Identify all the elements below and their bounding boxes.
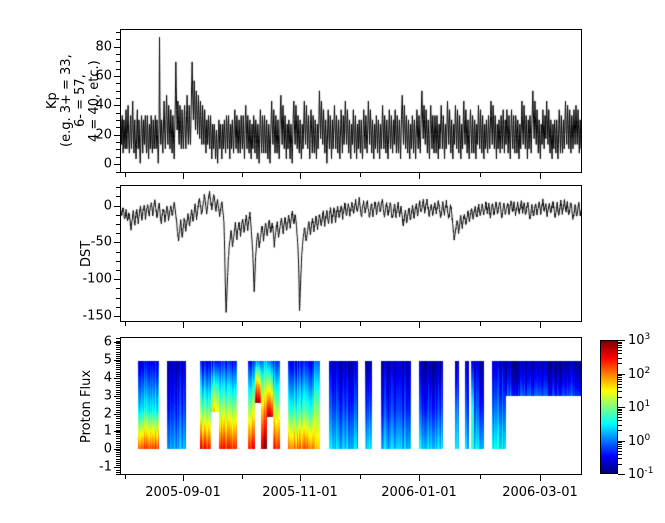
y-tick-minor (116, 365, 120, 366)
colorbar-tick-minor (618, 391, 622, 392)
x-tick-label: 2006-03-01 (502, 485, 578, 500)
y-tick-minor (116, 441, 120, 442)
x-tick-major (540, 475, 541, 481)
y-tick-minor (116, 423, 120, 424)
y-tick-label: -100 (74, 272, 112, 287)
y-tick-major (114, 47, 120, 48)
y-tick-minor (116, 427, 120, 428)
y-tick-label: 3 (74, 388, 112, 403)
y-tick-minor (116, 372, 120, 373)
colorbar-tick-minor (618, 425, 622, 426)
y-tick-major (114, 242, 120, 243)
y-tick-minor (116, 338, 120, 339)
y-tick-minor (116, 307, 120, 308)
y-tick-minor (116, 270, 120, 271)
y-tick-minor (116, 233, 120, 234)
y-tick-minor (116, 418, 120, 419)
x-tick-major (300, 173, 301, 179)
x-tick-minor (480, 173, 481, 177)
y-tick-major (114, 135, 120, 136)
colorbar-tick-minor (618, 464, 622, 465)
colorbar-tick-minor (618, 409, 622, 410)
y-tick-minor (116, 361, 120, 362)
y-tick-minor (116, 450, 120, 451)
y-tick-minor (116, 39, 120, 40)
x-tick-label: 2005-11-01 (262, 485, 338, 500)
y-tick-label: 1 (74, 424, 112, 439)
colorbar-tick-label: 103 (628, 332, 650, 348)
x-tick-major (183, 475, 184, 481)
colorbar-tick-label: 100 (628, 432, 650, 448)
y-tick-minor (116, 358, 120, 359)
x-tick-minor (480, 322, 481, 326)
colorbar-tick-major (618, 340, 625, 341)
y-tick-minor (116, 465, 120, 466)
x-tick-minor (242, 322, 243, 326)
y-tick-minor (116, 367, 120, 368)
y-tick-minor (116, 447, 120, 448)
colorbar-tick-minor (618, 412, 622, 413)
y-tick-minor (116, 376, 120, 377)
y-tick-label: 2 (74, 406, 112, 421)
y-tick-minor (116, 394, 120, 395)
y-tick-minor (116, 172, 120, 173)
y-tick-minor (116, 474, 120, 475)
x-tick-major (183, 322, 184, 328)
x-tick-major (540, 173, 541, 179)
colorbar-tick-minor (618, 397, 622, 398)
y-tick-minor (116, 407, 120, 408)
y-tick-major (114, 164, 120, 165)
y-tick-minor (116, 61, 120, 62)
colorbar-tick-minor (618, 458, 622, 459)
y-tick-label: 6 (74, 335, 112, 350)
y-tick-minor (116, 354, 120, 355)
colorbar-tick-minor (618, 420, 622, 421)
y-tick-minor (116, 252, 120, 253)
y-tick-major (114, 206, 120, 207)
colorbar-tick-major (618, 474, 625, 475)
y-tick-label: -1 (74, 459, 112, 474)
x-tick-major (419, 322, 420, 328)
y-tick-minor (116, 414, 120, 415)
x-tick-major (540, 322, 541, 328)
x-tick-minor (125, 322, 126, 326)
y-tick-minor (116, 434, 120, 435)
y-tick-minor (116, 472, 120, 473)
x-tick-label: 2006-01-01 (381, 485, 457, 500)
y-tick-label: 60 (74, 69, 112, 84)
y-tick-minor (116, 352, 120, 353)
y-tick-minor (116, 445, 120, 446)
y-tick-minor (116, 410, 120, 411)
y-tick-minor (116, 421, 120, 422)
y-tick-minor (116, 385, 120, 386)
y-tick-minor (116, 443, 120, 444)
colorbar-tick-minor (618, 442, 622, 443)
y-tick-minor (116, 403, 120, 404)
y-tick-minor (116, 425, 120, 426)
y-tick-minor (116, 341, 120, 342)
y-tick-major (114, 279, 120, 280)
colorbar-tick-minor (618, 446, 622, 447)
y-tick-minor (116, 142, 120, 143)
colorbar-tick-minor (618, 347, 622, 348)
y-tick-minor (116, 120, 120, 121)
x-tick-major (419, 173, 420, 179)
colorbar-tick-minor (618, 430, 622, 431)
colorbar-tick-minor (618, 377, 622, 378)
y-tick-minor (116, 392, 120, 393)
y-tick-minor (116, 196, 120, 197)
y-tick-minor (116, 432, 120, 433)
x-tick-minor (242, 173, 243, 177)
figure-canvas: Kp (e.g. 3+ = 33, 6- = 57, 4 = 40, etc.)… (0, 0, 665, 523)
colorbar-tick-minor (618, 358, 622, 359)
y-tick-minor (116, 436, 120, 437)
y-tick-minor (116, 298, 120, 299)
y-tick-minor (116, 398, 120, 399)
y-tick-label: -50 (74, 235, 112, 250)
y-tick-minor (116, 381, 120, 382)
colorbar-tick-minor (618, 451, 622, 452)
y-tick-major (114, 316, 120, 317)
y-tick-minor (116, 378, 120, 379)
y-tick-minor (116, 467, 120, 468)
x-tick-minor (360, 173, 361, 177)
colorbar-gradient (600, 340, 618, 474)
y-tick-minor (116, 401, 120, 402)
dst-series-plot (121, 186, 581, 321)
colorbar-tick-label: 101 (628, 399, 650, 415)
y-tick-major (114, 105, 120, 106)
y-tick-minor (116, 261, 120, 262)
y-tick-label: 40 (74, 98, 112, 113)
y-tick-minor (116, 69, 120, 70)
y-tick-label: 0 (74, 198, 112, 213)
x-tick-minor (360, 475, 361, 479)
y-tick-minor (116, 113, 120, 114)
y-tick-minor (116, 91, 120, 92)
x-tick-minor (242, 475, 243, 479)
colorbar-tick-minor (618, 410, 622, 411)
x-tick-minor (125, 475, 126, 479)
x-tick-minor (125, 173, 126, 177)
x-tick-minor (360, 322, 361, 326)
y-tick-minor (116, 149, 120, 150)
y-tick-minor (116, 454, 120, 455)
colorbar-tick-minor (618, 417, 622, 418)
y-tick-minor (116, 288, 120, 289)
y-tick-minor (116, 215, 120, 216)
y-tick-minor (116, 83, 120, 84)
colorbar-tick-minor (618, 384, 622, 385)
colorbar-tick-label: 10-1 (628, 466, 654, 482)
y-tick-minor (116, 463, 120, 464)
x-tick-major (300, 475, 301, 481)
y-tick-minor (116, 127, 120, 128)
y-tick-label: 4 (74, 370, 112, 385)
y-tick-minor (116, 387, 120, 388)
y-tick-minor (116, 347, 120, 348)
y-tick-minor (116, 396, 120, 397)
y-tick-label: 0 (74, 442, 112, 457)
y-tick-label: -150 (74, 309, 112, 324)
colorbar-tick-minor (618, 343, 622, 344)
colorbar-tick-minor (618, 387, 622, 388)
y-tick-minor (116, 438, 120, 439)
y-tick-minor (116, 157, 120, 158)
y-tick-minor (116, 452, 120, 453)
colorbar-tick-minor (618, 353, 622, 354)
colorbar-tick-minor (618, 454, 622, 455)
colorbar-tick-minor (618, 375, 622, 376)
colorbar-tick-minor (618, 448, 622, 449)
y-tick-minor (116, 343, 120, 344)
y-tick-minor (116, 187, 120, 188)
y-tick-minor (116, 390, 120, 391)
colorbar-tick-minor (618, 342, 622, 343)
y-tick-minor (116, 369, 120, 370)
y-tick-minor (116, 461, 120, 462)
y-tick-minor (116, 98, 120, 99)
y-tick-minor (116, 470, 120, 471)
colorbar-tick-minor (618, 381, 622, 382)
x-tick-minor (480, 475, 481, 479)
colorbar-tick-minor (618, 363, 622, 364)
kp-series-plot (121, 30, 581, 172)
y-tick-label: 5 (74, 353, 112, 368)
colorbar-tick-major (618, 407, 625, 408)
y-tick-minor (116, 412, 120, 413)
y-tick-minor (116, 349, 120, 350)
y-tick-minor (116, 430, 120, 431)
proton-flux-spectrogram (121, 338, 581, 474)
x-tick-major (183, 173, 184, 179)
colorbar-tick-label: 102 (628, 365, 650, 381)
y-tick-minor (116, 32, 120, 33)
y-tick-minor (116, 363, 120, 364)
y-tick-minor (116, 459, 120, 460)
x-tick-label: 2005-09-01 (145, 485, 221, 500)
y-tick-minor (116, 54, 120, 55)
y-tick-minor (116, 456, 120, 457)
x-tick-major (419, 475, 420, 481)
x-tick-major (300, 322, 301, 328)
y-tick-minor (116, 405, 120, 406)
y-tick-major (114, 76, 120, 77)
y-tick-minor (116, 374, 120, 375)
y-tick-minor (116, 416, 120, 417)
colorbar-tick-minor (618, 345, 622, 346)
y-tick-minor (116, 345, 120, 346)
y-tick-label: 80 (74, 39, 112, 54)
colorbar-tick-minor (618, 350, 622, 351)
colorbar-tick-minor (618, 379, 622, 380)
y-tick-minor (116, 224, 120, 225)
y-tick-label: 20 (74, 127, 112, 142)
y-tick-label: 0 (74, 157, 112, 172)
colorbar-tick-minor (618, 414, 622, 415)
colorbar-tick-minor (618, 444, 622, 445)
y-tick-minor (116, 383, 120, 384)
y-tick-minor (116, 356, 120, 357)
